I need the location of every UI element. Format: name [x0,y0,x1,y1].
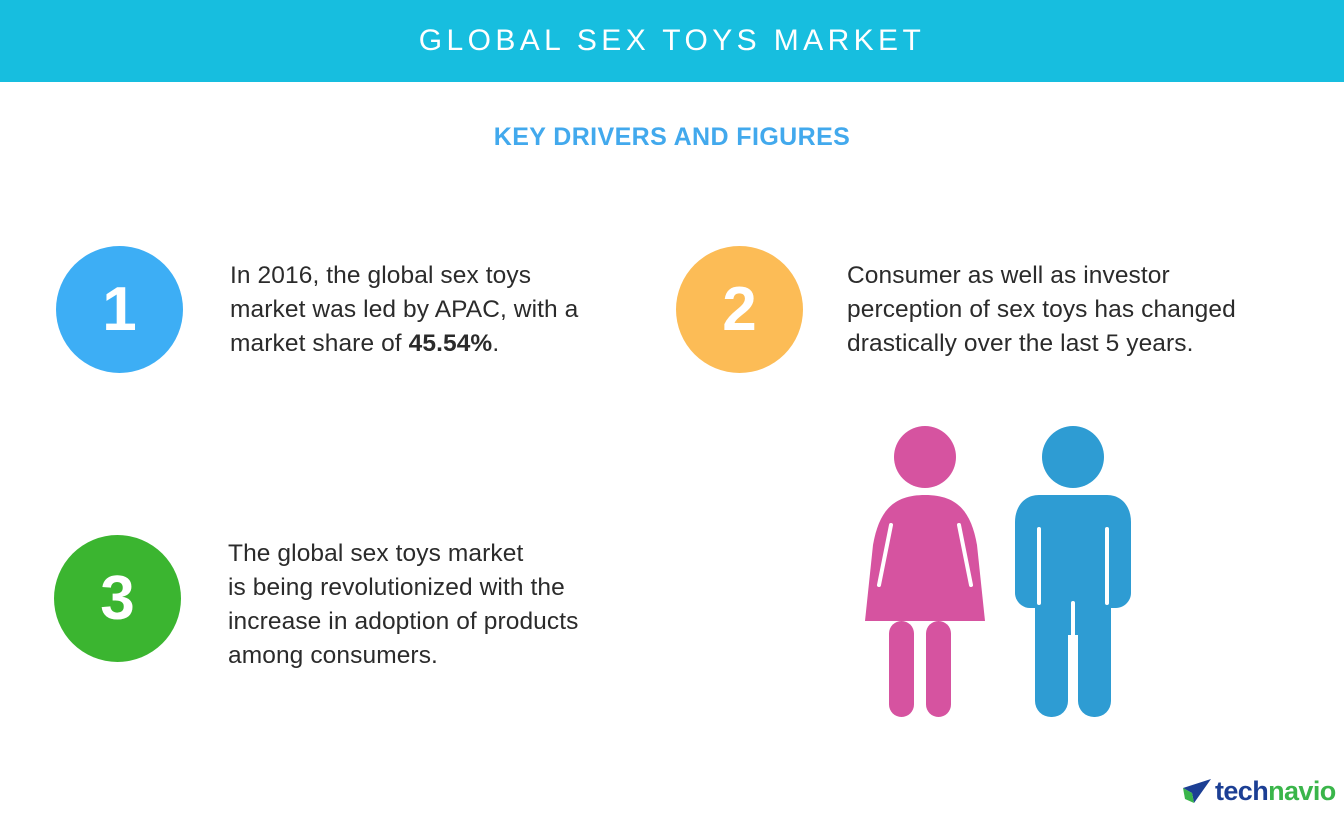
section-subtitle: KEY DRIVERS AND FIGURES [0,123,1344,152]
fact-text-1: In 2016, the global sex toys market was … [230,259,580,361]
gender-pictogram-group [845,425,1165,735]
fact-text-1-lead: In 2016, the global sex toys market was … [230,262,578,357]
page-title: GLOBAL SEX TOYS MARKET [419,24,925,58]
fact-number-badge-2: 2 [676,246,803,373]
fact-text-3: The global sex toys market is being revo… [228,537,588,673]
logo-word-navio: navio [1268,776,1336,806]
fact-text-3-lead: The global sex toys market is being revo… [228,540,579,669]
fact-item-2: 2 Consumer as well as investor perceptio… [676,246,1237,373]
fact-number-badge-3: 3 [54,535,181,662]
technavio-arrow-icon [1182,778,1212,805]
logo-word-tech: tech [1215,776,1268,806]
female-figure-icon [865,425,985,730]
fact-text-1-tail: . [492,330,499,357]
fact-text-2-lead: Consumer as well as investor perception … [847,262,1236,357]
fact-item-3: 3 The global sex toys market is being re… [54,535,588,673]
male-figure-icon [1013,425,1133,730]
technavio-wordmark: technavio [1215,778,1336,805]
fact-text-2: Consumer as well as investor perception … [847,259,1237,361]
header-band: GLOBAL SEX TOYS MARKET [0,0,1344,82]
fact-number-badge-1: 1 [56,246,183,373]
fact-text-1-highlight: 45.54% [409,330,493,357]
technavio-logo: technavio [1182,778,1336,805]
fact-item-1: 1 In 2016, the global sex toys market wa… [56,246,580,373]
